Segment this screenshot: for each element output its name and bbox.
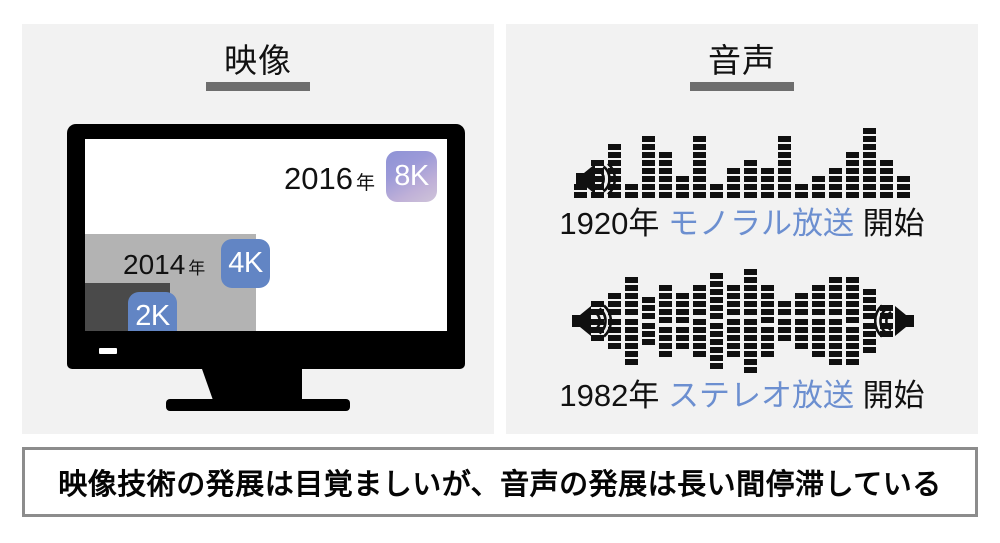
equalizer-segment (880, 160, 893, 166)
equalizer-segment (863, 297, 876, 303)
equalizer-segment (693, 192, 706, 198)
audio-panel-title: 音声 (506, 42, 978, 80)
equalizer-segment (625, 319, 638, 325)
stereo-suffix: 開始 (863, 378, 925, 413)
equalizer-segment (693, 309, 706, 315)
equalizer-segment (761, 184, 774, 190)
equalizer-segment (778, 176, 791, 182)
equalizer-bar (829, 168, 842, 198)
equalizer-segment (778, 335, 791, 341)
equalizer-segment (761, 327, 774, 333)
equalizer-segment (625, 184, 638, 190)
equalizer-segment (676, 309, 689, 315)
speaker-icon (574, 162, 616, 196)
equalizer-segment (693, 168, 706, 174)
mono-suffix: 開始 (863, 206, 925, 241)
equalizer-segment (710, 323, 723, 329)
equalizer-segment (795, 309, 808, 315)
equalizer-segment (710, 339, 723, 345)
equalizer-segment (863, 184, 876, 190)
equalizer-segment (795, 327, 808, 333)
equalizer-segment (863, 144, 876, 150)
equalizer-bar (693, 136, 706, 198)
equalizer-bar-upper (795, 293, 808, 315)
equalizer-bar (897, 176, 910, 198)
equalizer-bar (744, 269, 757, 373)
equalizer-segment (744, 277, 757, 283)
equalizer-bar-lower (676, 327, 689, 349)
equalizer-segment (693, 160, 706, 166)
equalizer-bar (761, 285, 774, 357)
equalizer-segment (608, 343, 621, 349)
equalizer-segment (744, 176, 757, 182)
stereo-equalizer (591, 272, 893, 370)
equalizer-segment (608, 152, 621, 158)
equalizer-segment (829, 192, 842, 198)
equalizer-segment (727, 285, 740, 291)
speaker-icon-mirrored (874, 304, 916, 338)
equalizer-segment (727, 293, 740, 299)
equalizer-segment (625, 301, 638, 307)
equalizer-segment (710, 355, 723, 361)
equalizer-bar-upper (812, 285, 825, 315)
equalizer-segment (812, 335, 825, 341)
equalizer-segment (846, 359, 859, 365)
equalizer-segment (710, 192, 723, 198)
equalizer-segment (812, 309, 825, 315)
equalizer-segment (761, 293, 774, 299)
equalizer-segment (846, 351, 859, 357)
equalizer-segment (795, 184, 808, 190)
equalizer-segment (778, 160, 791, 166)
equalizer-segment (778, 144, 791, 150)
equalizer-segment (727, 319, 740, 325)
equalizer-segment (625, 277, 638, 283)
equalizer-segment (744, 343, 757, 349)
equalizer-bar-lower (693, 319, 706, 357)
equalizer-segment (642, 331, 655, 337)
stereo-highlight: ステレオ放送 (668, 378, 854, 413)
equalizer-segment (676, 343, 689, 349)
tv-body: 2016年 2014年 8K 4K 2K (67, 124, 465, 369)
equalizer-segment (812, 327, 825, 333)
equalizer-segment (778, 184, 791, 190)
equalizer-segment (812, 176, 825, 182)
equalizer-segment (727, 301, 740, 307)
equalizer-bar-upper (761, 285, 774, 323)
tv-screen: 2016年 2014年 8K 4K 2K (85, 139, 447, 331)
bottom-caption-box: 映像技術の発展は目覚ましいが、音声の発展は長い間停滞している (22, 447, 978, 517)
equalizer-segment (642, 305, 655, 311)
equalizer-bar (778, 301, 791, 341)
equalizer-segment (693, 301, 706, 307)
equalizer-segment (761, 343, 774, 349)
stereo-year: 1982年 (559, 378, 659, 413)
equalizer-bar-upper (846, 277, 859, 323)
equalizer-segment (744, 293, 757, 299)
video-panel-title: 映像 (22, 42, 494, 80)
equalizer-bar-upper (676, 293, 689, 323)
tv-power-indicator (99, 348, 117, 354)
equalizer-segment (761, 301, 774, 307)
equalizer-segment (795, 192, 808, 198)
equalizer-segment (829, 293, 842, 299)
equalizer-bar-lower (659, 327, 672, 357)
equalizer-segment (710, 313, 723, 319)
equalizer-segment (761, 335, 774, 341)
equalizer-segment (829, 168, 842, 174)
equalizer-bar (659, 152, 672, 198)
year-suffix-4k: 年 (188, 259, 205, 278)
equalizer-segment (727, 168, 740, 174)
bottom-caption-text: 映像技術の発展は目覚ましいが、音声の発展は長い間停滞している (58, 461, 942, 503)
equalizer-segment (761, 309, 774, 315)
equalizer-segment (863, 347, 876, 353)
equalizer-bar-upper (778, 301, 791, 315)
equalizer-segment (642, 184, 655, 190)
equalizer-segment (863, 160, 876, 166)
equalizer-segment (846, 152, 859, 158)
equalizer-bar (676, 176, 689, 198)
equalizer-segment (659, 168, 672, 174)
equalizer-segment (812, 184, 825, 190)
equalizer-segment (829, 351, 842, 357)
equalizer-segment (812, 192, 825, 198)
mono-waveform-row (506, 116, 978, 198)
equalizer-segment (659, 184, 672, 190)
equalizer-segment (642, 144, 655, 150)
mono-year: 1920年 (559, 206, 659, 241)
equalizer-bar (693, 285, 706, 357)
equalizer-segment (778, 309, 791, 315)
equalizer-segment (744, 351, 757, 357)
equalizer-segment (710, 297, 723, 303)
stereo-waveform-row (506, 272, 978, 370)
equalizer-segment (829, 309, 842, 315)
equalizer-segment (642, 168, 655, 174)
equalizer-segment (778, 301, 791, 307)
equalizer-segment (693, 285, 706, 291)
badge-2k: 2K (128, 292, 177, 331)
equalizer-segment (897, 184, 910, 190)
equalizer-segment (880, 176, 893, 182)
equalizer-bar-upper (829, 277, 842, 315)
equalizer-segment (744, 160, 757, 166)
equalizer-segment (744, 269, 757, 275)
equalizer-segment (727, 351, 740, 357)
equalizer-bar-lower (812, 319, 825, 357)
equalizer-segment (710, 363, 723, 369)
equalizer-segment (659, 343, 672, 349)
equalizer-segment (676, 301, 689, 307)
equalizer-segment (778, 319, 791, 325)
equalizer-segment (744, 192, 757, 198)
equalizer-segment (693, 343, 706, 349)
equalizer-segment (727, 309, 740, 315)
equalizer-segment (659, 152, 672, 158)
equalizer-segment (693, 136, 706, 142)
equalizer-segment (897, 176, 910, 182)
equalizer-bar (812, 176, 825, 198)
equalizer-bar (795, 293, 808, 349)
equalizer-segment (625, 192, 638, 198)
audio-item-mono: 1920年 モノラル放送 開始 (506, 116, 978, 246)
equalizer-segment (659, 327, 672, 333)
equalizer-bar (846, 152, 859, 198)
equalizer-segment (659, 160, 672, 166)
year-value-4k: 2014 (123, 249, 185, 280)
equalizer-segment (676, 293, 689, 299)
audio-title-underline (690, 82, 794, 91)
badge-8k: 8K (386, 151, 437, 202)
equalizer-segment (625, 285, 638, 291)
equalizer-segment (812, 343, 825, 349)
video-panel-header: 映像 (22, 42, 494, 91)
equalizer-segment (642, 297, 655, 303)
equalizer-bar (795, 184, 808, 198)
equalizer-bar (863, 128, 876, 198)
equalizer-segment (846, 293, 859, 299)
equalizer-segment (863, 168, 876, 174)
equalizer-segment (761, 168, 774, 174)
equalizer-segment (727, 176, 740, 182)
equalizer-segment (710, 273, 723, 279)
equalizer-segment (778, 136, 791, 142)
equalizer-segment (812, 301, 825, 307)
equalizer-bar (642, 297, 655, 345)
equalizer-bar-lower (642, 323, 655, 345)
equalizer-segment (676, 327, 689, 333)
equalizer-segment (812, 319, 825, 325)
equalizer-segment (744, 168, 757, 174)
equalizer-bar (625, 184, 638, 198)
equalizer-segment (846, 317, 859, 323)
badge-4k: 4K (221, 239, 270, 288)
equalizer-segment (744, 285, 757, 291)
tv-stand-neck-inner (214, 369, 302, 403)
equalizer-segment (727, 335, 740, 341)
equalizer-segment (676, 184, 689, 190)
equalizer-bar-upper (744, 269, 757, 315)
equalizer-segment (659, 301, 672, 307)
mono-equalizer (574, 116, 910, 198)
equalizer-bar (744, 160, 757, 198)
equalizer-segment (710, 281, 723, 287)
equalizer-segment (795, 293, 808, 299)
equalizer-segment (710, 184, 723, 190)
equalizer-segment (846, 168, 859, 174)
equalizer-segment (846, 301, 859, 307)
equalizer-segment (795, 335, 808, 341)
stereo-caption: 1982年 ステレオ放送 開始 (506, 374, 978, 418)
equalizer-segment (642, 313, 655, 319)
equalizer-segment (829, 176, 842, 182)
equalizer-bar (829, 277, 842, 365)
equalizer-segment (642, 323, 655, 329)
equalizer-segment (795, 319, 808, 325)
equalizer-segment (846, 277, 859, 283)
equalizer-segment (659, 176, 672, 182)
equalizer-segment (829, 277, 842, 283)
equalizer-segment (829, 319, 842, 325)
equalizer-bar (880, 160, 893, 198)
equalizer-segment (693, 184, 706, 190)
equalizer-segment (744, 301, 757, 307)
equalizer-segment (863, 289, 876, 295)
equalizer-segment (812, 293, 825, 299)
equalizer-bar (812, 285, 825, 357)
equalizer-segment (744, 359, 757, 365)
tv-graphic: 2016年 2014年 8K 4K 2K (52, 124, 464, 416)
equalizer-segment (829, 343, 842, 349)
equalizer-segment (880, 184, 893, 190)
equalizer-segment (693, 327, 706, 333)
equalizer-segment (710, 289, 723, 295)
equalizer-segment (863, 136, 876, 142)
equalizer-bar (846, 277, 859, 365)
equalizer-segment (625, 293, 638, 299)
equalizer-segment (676, 176, 689, 182)
equalizer-segment (625, 309, 638, 315)
equalizer-segment (693, 335, 706, 341)
equalizer-segment (897, 192, 910, 198)
equalizer-segment (693, 144, 706, 150)
equalizer-segment (829, 285, 842, 291)
equalizer-segment (795, 301, 808, 307)
equalizer-segment (710, 331, 723, 337)
year-label-4k: 2014年 (123, 251, 205, 279)
year-value-8k: 2016 (284, 161, 353, 196)
equalizer-segment (744, 335, 757, 341)
equalizer-bar-upper (625, 277, 638, 315)
equalizer-segment (829, 359, 842, 365)
equalizer-segment (846, 327, 859, 333)
equalizer-bar-upper (727, 285, 740, 315)
equalizer-segment (693, 351, 706, 357)
equalizer-segment (761, 176, 774, 182)
equalizer-bar-lower (761, 327, 774, 357)
equalizer-segment (846, 176, 859, 182)
equalizer-segment (812, 285, 825, 291)
equalizer-segment (727, 192, 740, 198)
equalizer-bar-lower (846, 327, 859, 365)
equalizer-segment (693, 293, 706, 299)
equalizer-segment (727, 343, 740, 349)
equalizer-segment (659, 351, 672, 357)
video-panel: 映像 2016年 2014年 8K 4K 2K (22, 24, 494, 434)
equalizer-bar (710, 273, 723, 369)
equalizer-segment (829, 301, 842, 307)
equalizer-segment (846, 192, 859, 198)
equalizer-segment (727, 327, 740, 333)
equalizer-segment (863, 152, 876, 158)
audio-panel: 音声 1920年 モノラル放送 開始 (506, 24, 978, 434)
equalizer-segment (863, 176, 876, 182)
equalizer-segment (642, 160, 655, 166)
equalizer-segment (676, 317, 689, 323)
equalizer-segment (846, 285, 859, 291)
equalizer-segment (608, 144, 621, 150)
mono-caption: 1920年 モノラル放送 開始 (506, 202, 978, 246)
equalizer-bar (659, 285, 672, 357)
equalizer-segment (693, 152, 706, 158)
equalizer-bar-lower (744, 319, 757, 373)
equalizer-bar (710, 184, 723, 198)
equalizer-segment (744, 319, 757, 325)
equalizer-segment (625, 359, 638, 365)
equalizer-bar (778, 136, 791, 198)
equalizer-segment (744, 184, 757, 190)
equalizer-bar-lower (727, 319, 740, 357)
equalizer-segment (863, 128, 876, 134)
equalizer-bar-upper (659, 285, 672, 323)
equalizer-segment (829, 335, 842, 341)
equalizer-segment (778, 192, 791, 198)
equalizer-segment (863, 192, 876, 198)
equalizer-bar-lower (829, 319, 842, 365)
equalizer-bar-lower (625, 319, 638, 365)
equalizer-bar (676, 293, 689, 349)
equalizer-segment (744, 367, 757, 373)
equalizer-segment (659, 335, 672, 341)
equalizer-segment (778, 327, 791, 333)
equalizer-segment (659, 285, 672, 291)
mono-highlight: モノラル放送 (668, 206, 854, 241)
equalizer-segment (761, 192, 774, 198)
audio-panel-header: 音声 (506, 42, 978, 91)
equalizer-bar (642, 136, 655, 198)
equalizer-segment (625, 335, 638, 341)
equalizer-segment (863, 339, 876, 345)
equalizer-segment (761, 317, 774, 323)
equalizer-segment (625, 343, 638, 349)
equalizer-segment (829, 184, 842, 190)
equalizer-segment (744, 309, 757, 315)
equalizer-segment (727, 184, 740, 190)
equalizer-segment (846, 335, 859, 341)
equalizer-segment (676, 192, 689, 198)
equalizer-segment (846, 184, 859, 190)
equalizer-segment (880, 192, 893, 198)
equalizer-segment (846, 160, 859, 166)
equalizer-segment (778, 152, 791, 158)
tv-stand-base (166, 399, 350, 411)
equalizer-segment (642, 339, 655, 345)
video-title-underline (206, 82, 310, 91)
speaker-icon (570, 304, 612, 338)
equalizer-bar-lower (710, 323, 723, 369)
equalizer-segment (880, 168, 893, 174)
audio-item-stereo: 1982年 ステレオ放送 開始 (506, 272, 978, 418)
equalizer-segment (642, 176, 655, 182)
equalizer-segment (744, 327, 757, 333)
year-label-8k: 2016年 (284, 163, 375, 194)
equalizer-bar (625, 277, 638, 365)
equalizer-segment (710, 305, 723, 311)
equalizer-segment (642, 136, 655, 142)
equalizer-segment (778, 168, 791, 174)
equalizer-bar (727, 168, 740, 198)
equalizer-segment (659, 293, 672, 299)
equalizer-segment (642, 152, 655, 158)
equalizer-segment (625, 351, 638, 357)
equalizer-segment (659, 192, 672, 198)
equalizer-segment (676, 335, 689, 341)
equalizer-bar-lower (795, 319, 808, 349)
equalizer-bar-upper (710, 273, 723, 319)
equalizer-bar-upper (642, 297, 655, 319)
equalizer-segment (846, 309, 859, 315)
